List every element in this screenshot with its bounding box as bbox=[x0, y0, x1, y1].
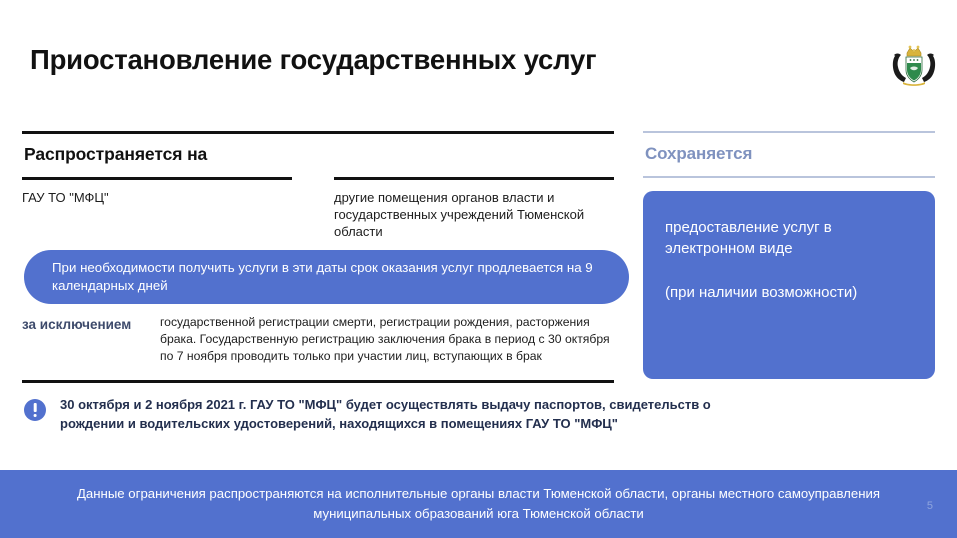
exception-text: государственной регистрации смерти, реги… bbox=[160, 314, 614, 364]
coverage-columns: ГАУ ТО "МФЦ" другие помещения органов вл… bbox=[22, 177, 614, 247]
retained-heading: Сохраняется bbox=[643, 133, 935, 176]
alert-callout: 30 октября и 2 ноября 2021 г. ГАУ ТО "МФ… bbox=[24, 396, 744, 433]
coverage-section: Распространяется на ГАУ ТО "МФЦ" другие … bbox=[22, 131, 614, 247]
retained-section: Сохраняется предоставление услуг в элект… bbox=[643, 131, 935, 379]
exclamation-circle-icon bbox=[24, 399, 46, 421]
coverage-column-other: другие помещения органов власти и госуда… bbox=[312, 177, 614, 247]
page-title: Приостановление государственных услуг bbox=[30, 44, 596, 76]
slide-footer: Данные ограничения распространяются на и… bbox=[0, 470, 957, 538]
exception-label: за исключением bbox=[22, 314, 160, 364]
footer-text: Данные ограничения распространяются на и… bbox=[9, 484, 949, 523]
retained-card-line-1: предоставление услуг в электронном виде bbox=[665, 217, 913, 260]
coverage-item-text: другие помещения органов власти и госуда… bbox=[334, 180, 614, 247]
extension-notice-pill: При необходимости получить услуги в эти … bbox=[24, 250, 629, 304]
exception-row: за исключением государственной регистрац… bbox=[22, 314, 614, 364]
coverage-item-text: ГАУ ТО "МФЦ" bbox=[22, 180, 312, 247]
retained-card: предоставление услуг в электронном виде … bbox=[643, 191, 935, 379]
coverage-heading: Распространяется на bbox=[22, 134, 614, 177]
coat-of-arms-tyumen-region-icon bbox=[889, 42, 939, 88]
slide-root: Приостановление государственных услуг bbox=[0, 0, 957, 538]
retained-card-line-2: (при наличии возможности) bbox=[665, 282, 913, 303]
page-number: 5 bbox=[927, 500, 933, 512]
section-rule-bottom bbox=[22, 380, 614, 383]
alert-text: 30 октября и 2 ноября 2021 г. ГАУ ТО "МФ… bbox=[60, 396, 744, 433]
coverage-column-mfc: ГАУ ТО "МФЦ" bbox=[22, 177, 312, 247]
extension-notice-text: При необходимости получить услуги в эти … bbox=[24, 259, 629, 295]
retained-rule-bottom bbox=[643, 176, 935, 178]
slide-header: Приостановление государственных услуг bbox=[0, 0, 957, 112]
